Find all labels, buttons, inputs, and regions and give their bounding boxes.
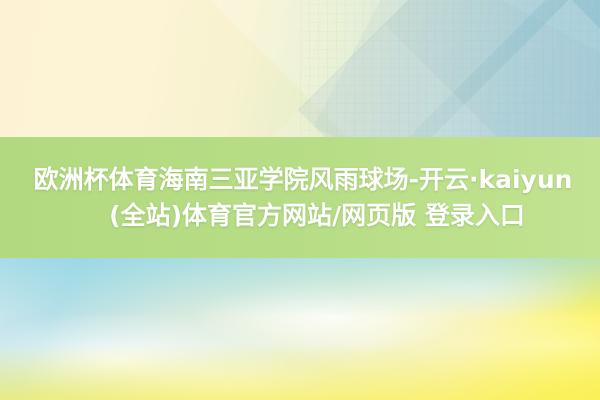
sky-yellow-tint bbox=[0, 345, 600, 400]
headline-line-1: 欧洲杯体育海南三亚学院风雨球场-开云·kaiyun bbox=[28, 162, 573, 198]
sky-cloud-decoration bbox=[0, 257, 600, 400]
headline-band: 欧洲杯体育海南三亚学院风雨球场-开云·kaiyun (全站)体育官方网站/网页版… bbox=[0, 137, 600, 258]
headline-line-2: (全站)体育官方网站/网页版 登录入口 bbox=[75, 198, 525, 234]
sky-cyan-tint bbox=[0, 257, 600, 317]
promo-banner: 欧洲杯体育海南三亚学院风雨球场-开云·kaiyun (全站)体育官方网站/网页版… bbox=[0, 0, 600, 400]
grid-texture-overlay bbox=[300, 0, 600, 140]
top-geometric-decoration bbox=[0, 0, 600, 140]
